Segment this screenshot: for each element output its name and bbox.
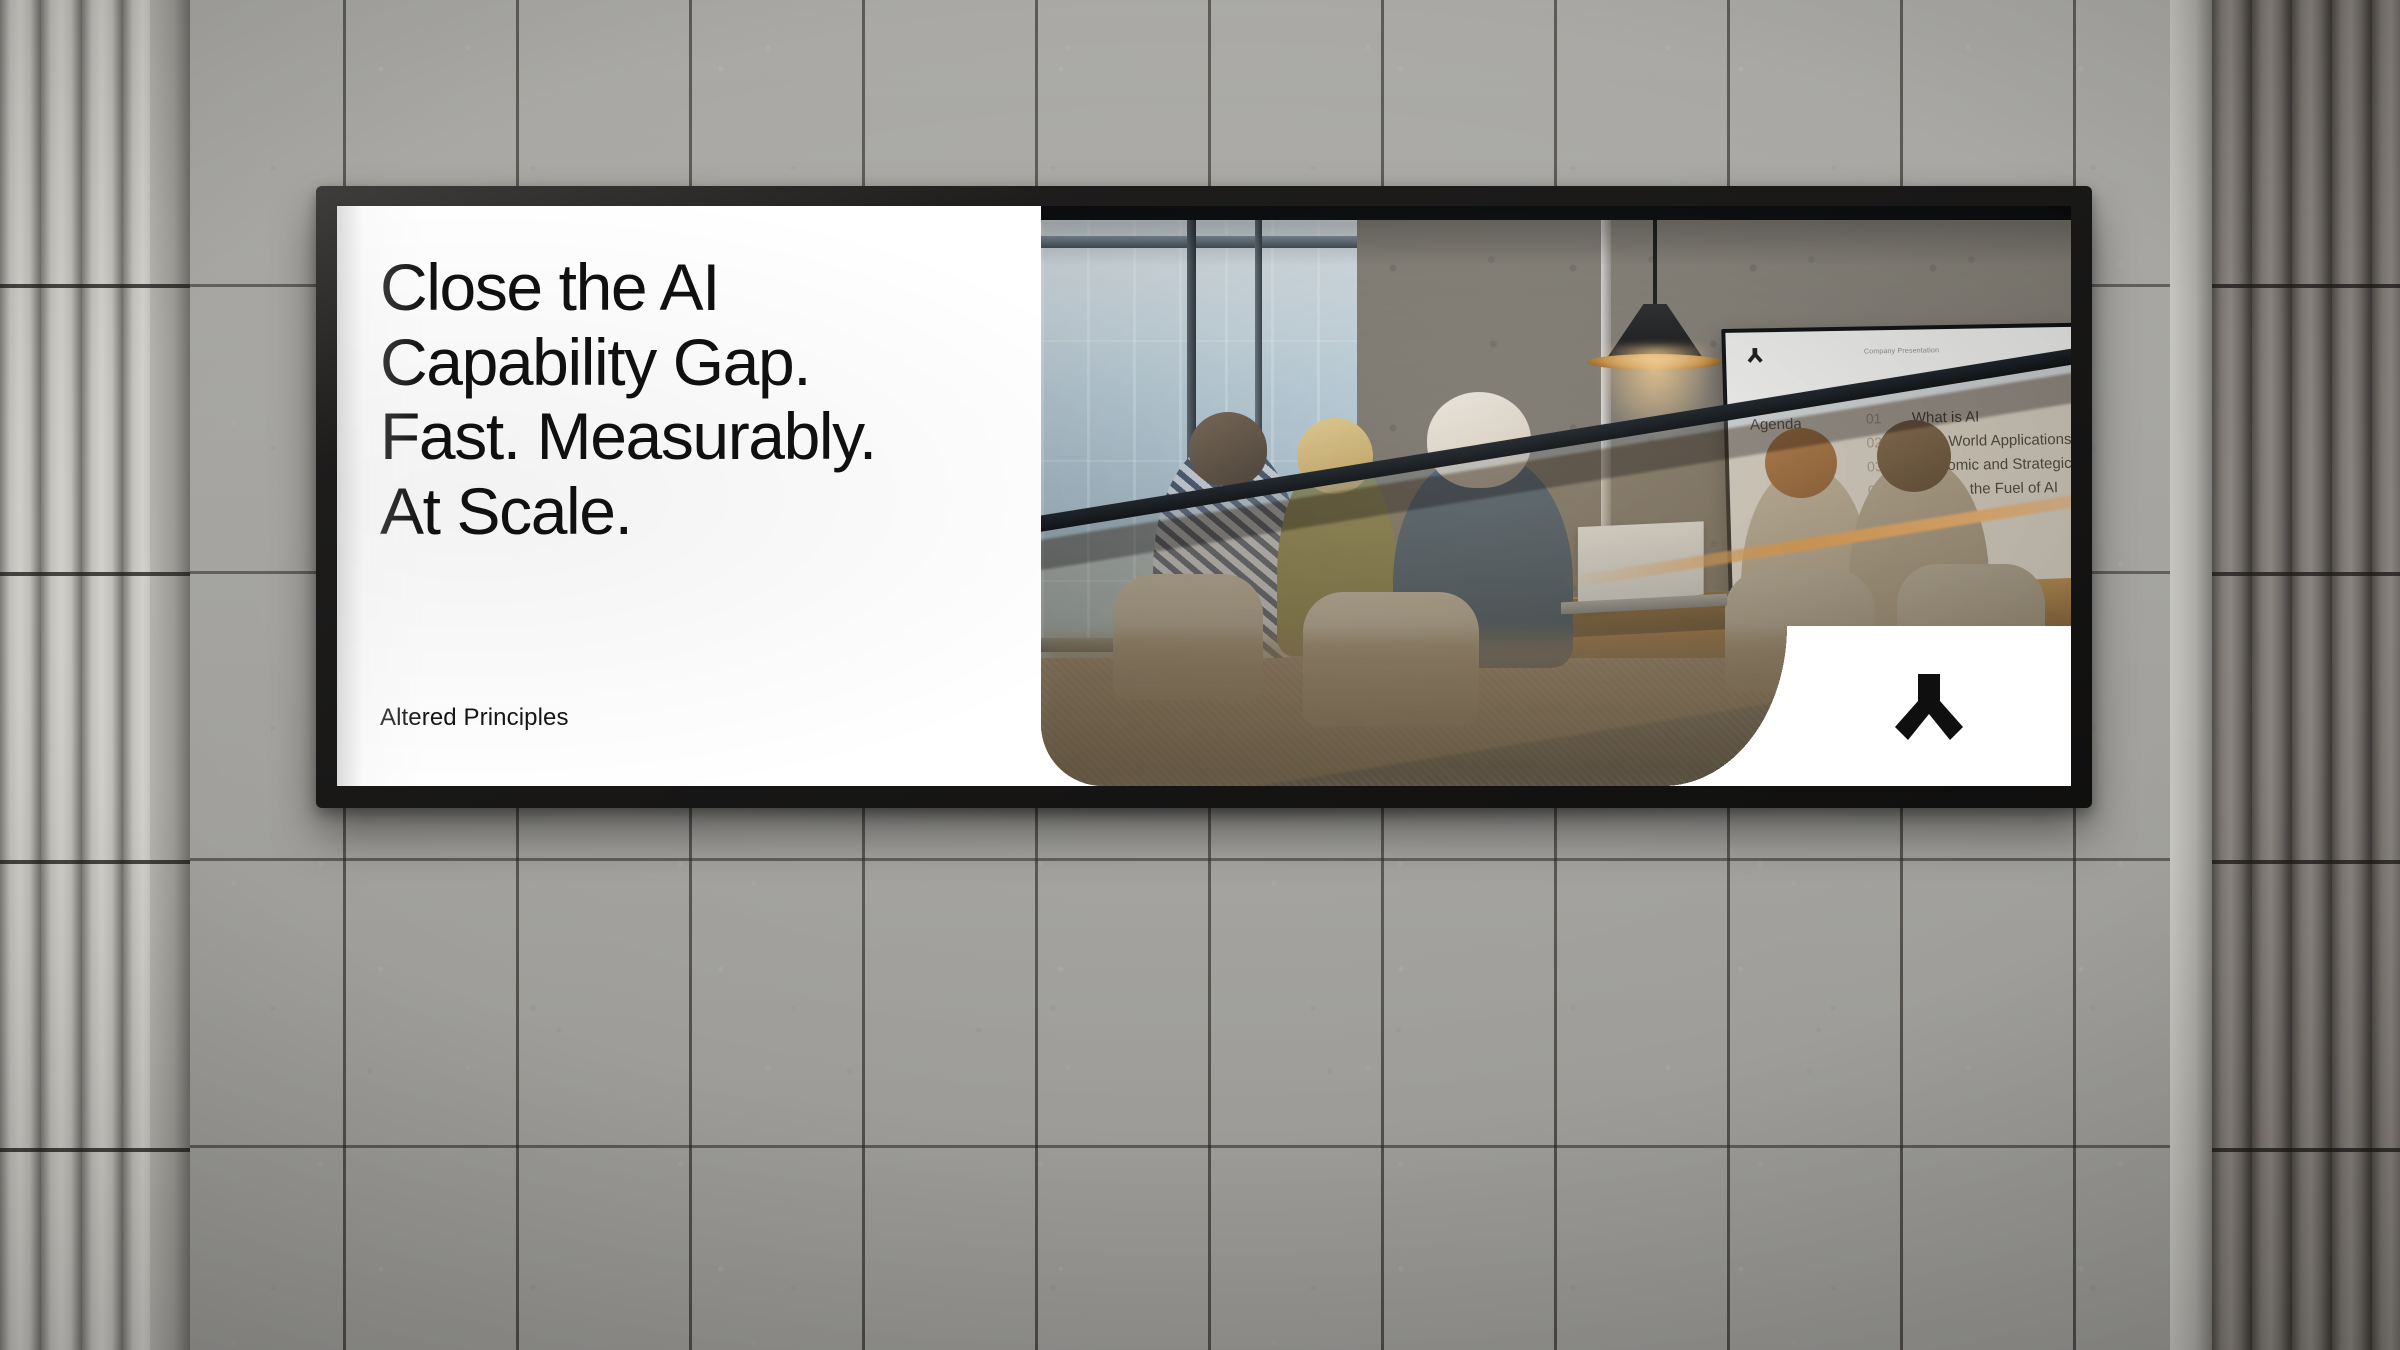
display-screen[interactable]: Close the AI Capability Gap. Fast. Measu… [337, 206, 2071, 786]
page-title: Close the AI Capability Gap. Fast. Measu… [380, 250, 980, 548]
brand-name: Altered Principles [380, 704, 569, 732]
headline-line-3: Fast. Measurably. [380, 399, 980, 474]
photo-person-head [1189, 412, 1267, 486]
altered-principles-chevron-logo-icon [1891, 674, 1967, 744]
pendant-lamp-cord [1653, 220, 1657, 308]
headline-line-2: Capability Gap. [380, 325, 980, 400]
logo-panel-concave-corner [1663, 626, 1789, 786]
headline-line-1: Close the AI [380, 250, 980, 325]
screenshot-stage: Close the AI Capability Gap. Fast. Measu… [0, 0, 2400, 1350]
wall-mounted-display[interactable]: Close the AI Capability Gap. Fast. Measu… [316, 186, 2092, 808]
logo-panel [1787, 626, 2071, 786]
headline-line-4: At Scale. [380, 474, 980, 549]
inner-slide-kicker: Company Presentation [1864, 347, 1939, 355]
altered-principles-chevron-logo-icon [1746, 346, 1765, 366]
slide-headline-block: Close the AI Capability Gap. Fast. Measu… [380, 250, 980, 548]
window-head-rail [1041, 236, 1371, 248]
